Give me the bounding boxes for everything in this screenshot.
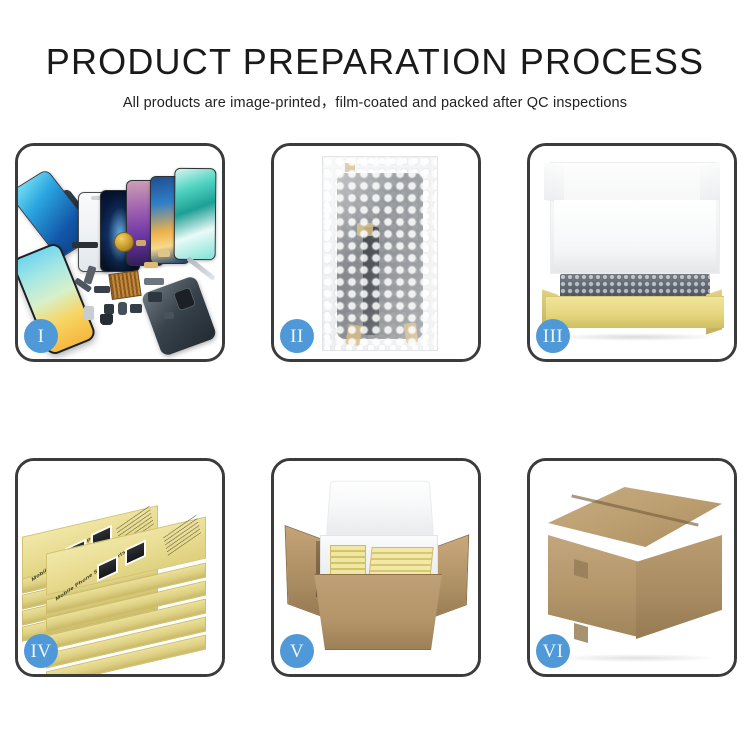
step-panel-3: III <box>527 143 737 362</box>
box-window-icon <box>97 555 118 582</box>
page-title: PRODUCT PREPARATION PROCESS <box>0 40 750 84</box>
spare-part-icon <box>144 262 158 268</box>
box-spec-lines <box>163 514 201 556</box>
step-badge-1: I <box>24 319 58 353</box>
drop-shadow <box>556 654 716 662</box>
step-panel-2: II <box>271 143 481 362</box>
flex-cable-icon <box>363 227 379 335</box>
battery-connector-icon <box>72 242 98 248</box>
box-stack-front: Mobile Phone Spare Parts <box>46 513 206 673</box>
header: PRODUCT PREPARATION PROCESS All products… <box>0 40 750 112</box>
bubble-wrap-pouch-icon <box>322 156 438 351</box>
page-subtitle: All products are image-printed，film-coat… <box>0 91 750 112</box>
spare-part-icon <box>94 286 110 293</box>
yellow-boxes-left-icon <box>330 545 366 579</box>
process-steps-grid: I II <box>15 143 737 677</box>
carton-tape-icon <box>574 623 588 643</box>
carton-face-left-icon <box>548 535 638 637</box>
step-panel-1: I <box>15 143 225 362</box>
box-flap-left-icon <box>544 162 564 205</box>
spare-part-icon <box>164 312 174 319</box>
spare-part-icon <box>100 314 113 325</box>
connector-icon <box>357 223 373 236</box>
carton-body-icon <box>310 574 446 650</box>
foam-sheet-icon <box>554 200 716 272</box>
step-badge-6: VI <box>536 634 570 668</box>
drop-shadow <box>552 333 720 341</box>
spare-part-icon <box>104 304 114 314</box>
step-panel-6: VI <box>527 458 737 677</box>
spare-part-icon <box>130 304 142 313</box>
box-flap-right-icon <box>700 162 720 205</box>
spare-part-icon <box>136 240 146 246</box>
spare-part-icon <box>148 292 162 302</box>
box-window-icon <box>125 539 146 566</box>
spare-part-icon <box>158 250 170 257</box>
carton-face-right-icon <box>636 535 722 639</box>
step-badge-3: III <box>536 319 570 353</box>
step-badge-2: II <box>280 319 314 353</box>
spare-part-icon <box>118 302 127 315</box>
step-badge-5: V <box>280 634 314 668</box>
step-badge-4: IV <box>24 634 58 668</box>
lcd-screen-icon <box>337 173 423 339</box>
product-preparation-process-infographic: PRODUCT PREPARATION PROCESS All products… <box>0 0 750 750</box>
phone-teal-icon <box>174 168 217 260</box>
screw-tray-icon <box>108 270 141 300</box>
yellow-box-front-icon <box>546 296 724 328</box>
connector-icon <box>345 324 362 346</box>
foam-lid-icon <box>326 481 435 542</box>
adhesive-tab-icon <box>345 163 355 172</box>
spare-part-icon <box>144 278 164 285</box>
spare-part-icon <box>84 306 94 320</box>
phone-back-housing-icon <box>140 275 217 357</box>
connector-icon <box>404 322 419 343</box>
step-panel-5: V <box>271 458 481 677</box>
step-panel-4: Mobile Phone Spare Parts <box>15 458 225 677</box>
speaker-module-icon <box>114 232 134 252</box>
